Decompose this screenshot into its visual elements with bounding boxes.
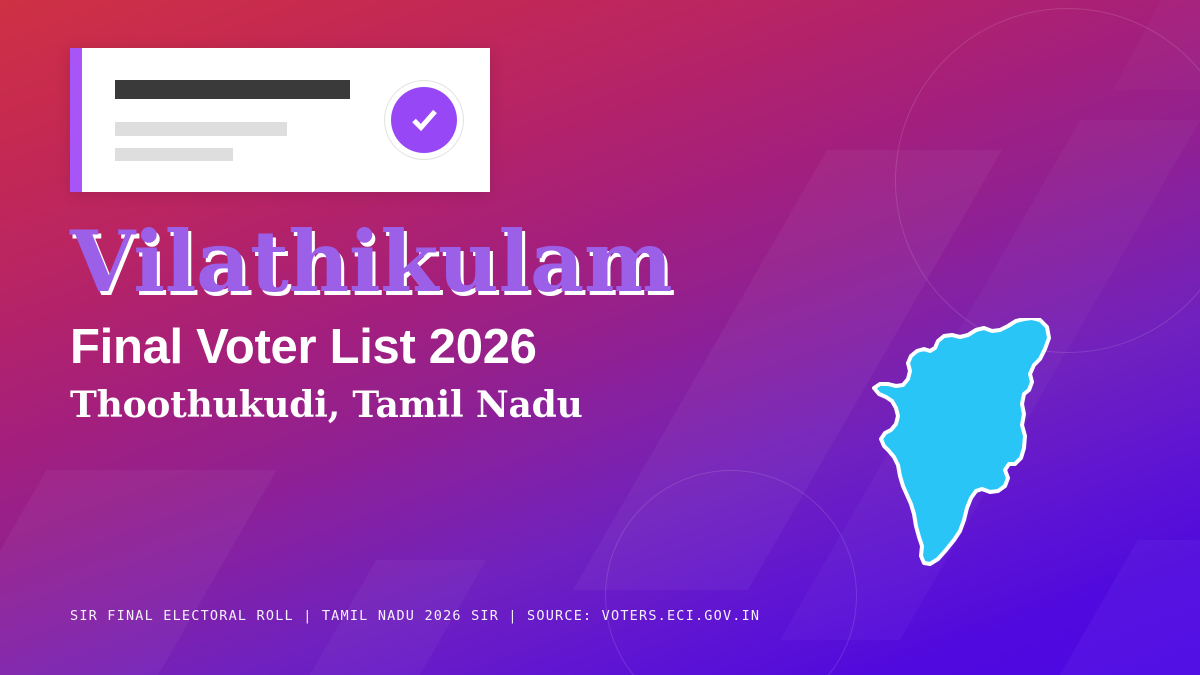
tamil-nadu-map xyxy=(872,318,1052,568)
verified-badge xyxy=(384,80,464,160)
poster-canvas: Vilathikulam Final Voter List 2026 Thoot… xyxy=(0,0,1200,675)
decorative-circle-outline xyxy=(895,8,1200,353)
card-accent-bar xyxy=(70,48,82,192)
page-title: Vilathikulam xyxy=(70,222,870,302)
check-circle-icon xyxy=(391,87,457,153)
list-subtitle: Final Voter List 2026 xyxy=(70,322,870,373)
card-placeholder-lines xyxy=(115,80,384,161)
document-card xyxy=(70,48,490,192)
decorative-circle-outline xyxy=(605,470,857,675)
district-state-label: Thoothukudi, Tamil Nadu xyxy=(70,386,870,426)
card-title-placeholder xyxy=(115,80,350,99)
decorative-diagonal-shape xyxy=(0,470,277,675)
card-detail-placeholder xyxy=(115,122,287,136)
decorative-diagonal-shape xyxy=(1113,0,1200,90)
card-body xyxy=(82,48,490,192)
headline-block: Vilathikulam Final Voter List 2026 Thoot… xyxy=(70,222,870,426)
card-detail-placeholder xyxy=(115,148,233,161)
footer-source-line: SIR FINAL ELECTORAL ROLL | TAMIL NADU 20… xyxy=(70,608,760,624)
